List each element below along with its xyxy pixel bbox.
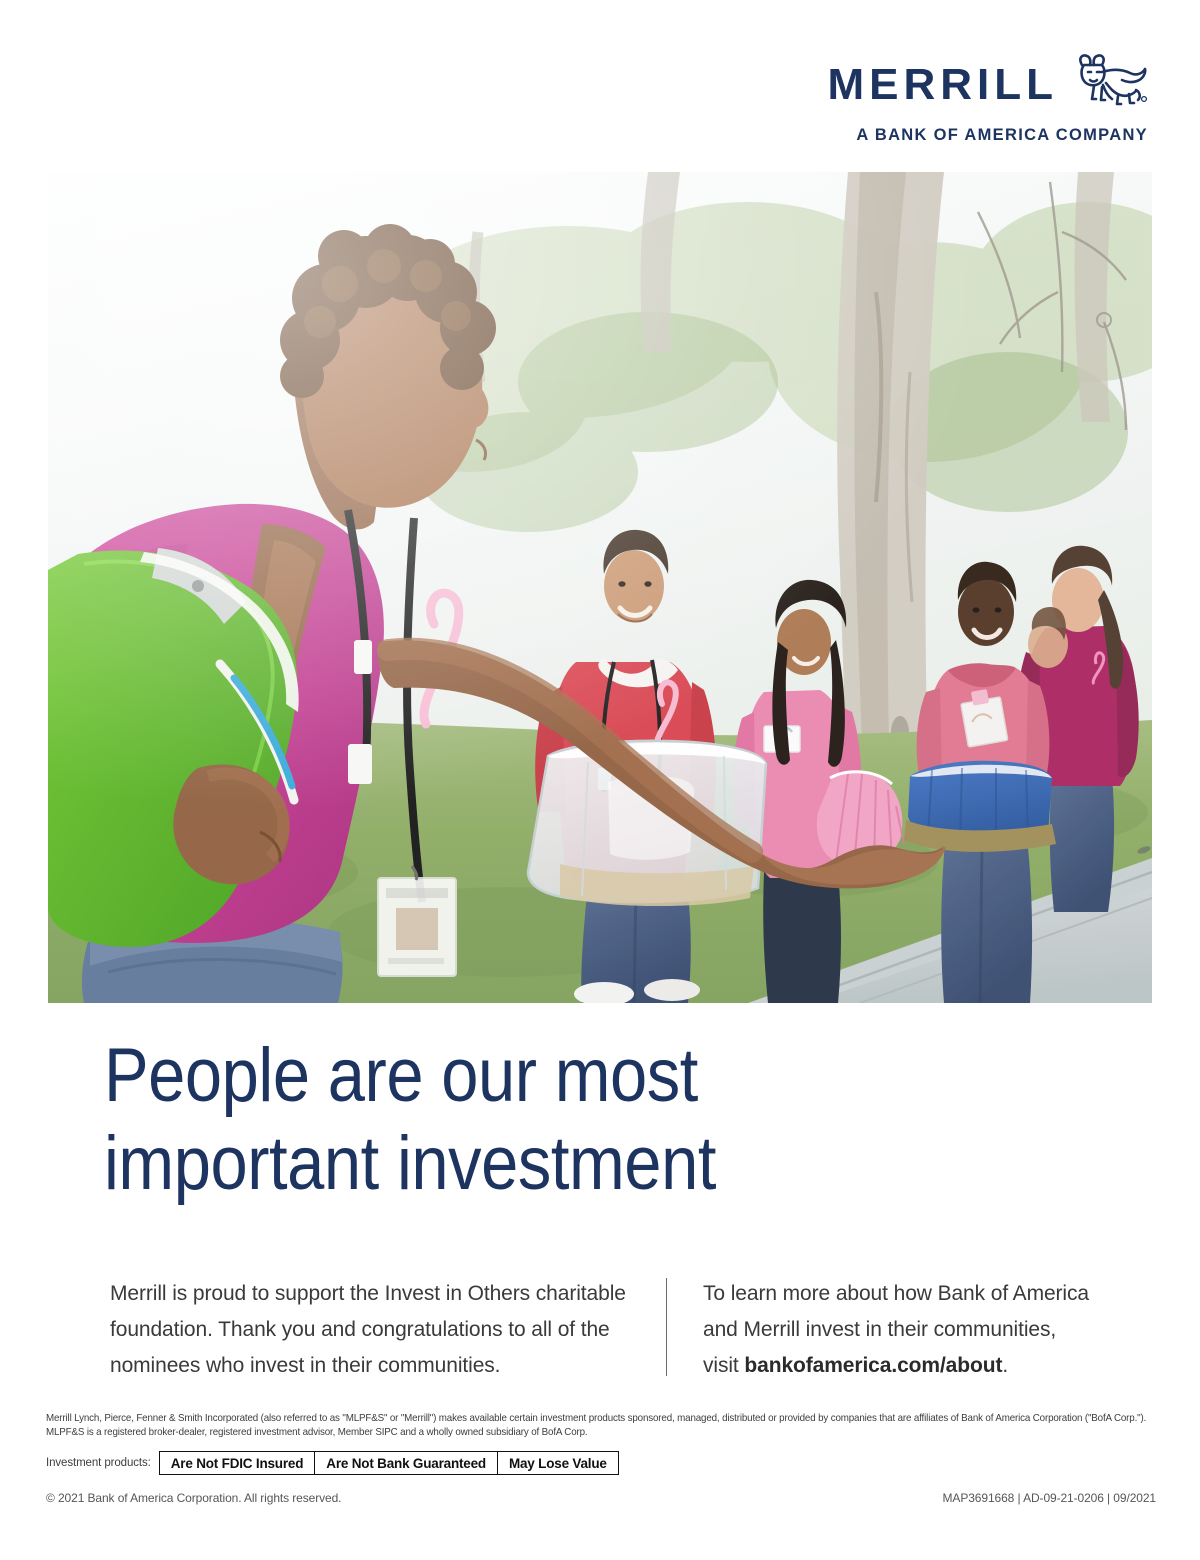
product-box-bank-guaranteed: Are Not Bank Guaranteed — [315, 1452, 498, 1474]
footer-bottom-row: © 2021 Bank of America Corporation. All … — [46, 1491, 1156, 1505]
headline-line-1: People are our most — [104, 1033, 698, 1118]
body-column-left: Merrill is proud to support the Invest i… — [110, 1276, 666, 1384]
bankofamerica-link[interactable]: bankofamerica.com/about — [744, 1354, 1002, 1377]
page-title: People are our most important investment — [104, 1032, 896, 1208]
support-paragraph: Merrill is proud to support the Invest i… — [110, 1276, 626, 1384]
body-column-right: To learn more about how Bank of America … — [667, 1276, 1097, 1384]
learn-more-paragraph: To learn more about how Bank of America … — [703, 1276, 1097, 1384]
hero-illustration — [48, 172, 1152, 1003]
copyright-text: © 2021 Bank of America Corporation. All … — [46, 1491, 341, 1505]
ad-code-text: MAP3691668 | AD-09-21-0206 | 09/2021 — [943, 1491, 1156, 1505]
bull-icon — [1072, 52, 1148, 118]
product-box-lose-value: May Lose Value — [498, 1452, 618, 1474]
investment-products-label: Investment products: — [46, 1451, 159, 1475]
investment-products-row: Investment products: Are Not FDIC Insure… — [46, 1451, 1156, 1475]
hero-photo — [48, 172, 1152, 1003]
merrill-tagline: A BANK OF AMERICA COMPANY — [827, 127, 1148, 144]
headline-line-2: important investment — [104, 1121, 716, 1206]
merrill-wordmark: MERRILL — [827, 63, 1058, 107]
disclaimer-text: Merrill Lynch, Pierce, Fenner & Smith In… — [46, 1412, 1155, 1440]
learn-more-suffix: . — [1002, 1354, 1008, 1377]
body-columns: Merrill is proud to support the Invest i… — [110, 1276, 1110, 1384]
merrill-logo: MERRILL — [827, 52, 1148, 144]
investment-products-boxes: Are Not FDIC Insured Are Not Bank Guaran… — [159, 1451, 619, 1475]
logo-row: MERRILL — [827, 52, 1148, 118]
product-box-fdic: Are Not FDIC Insured — [160, 1452, 316, 1474]
legal-footer: Merrill Lynch, Pierce, Fenner & Smith In… — [46, 1412, 1156, 1505]
